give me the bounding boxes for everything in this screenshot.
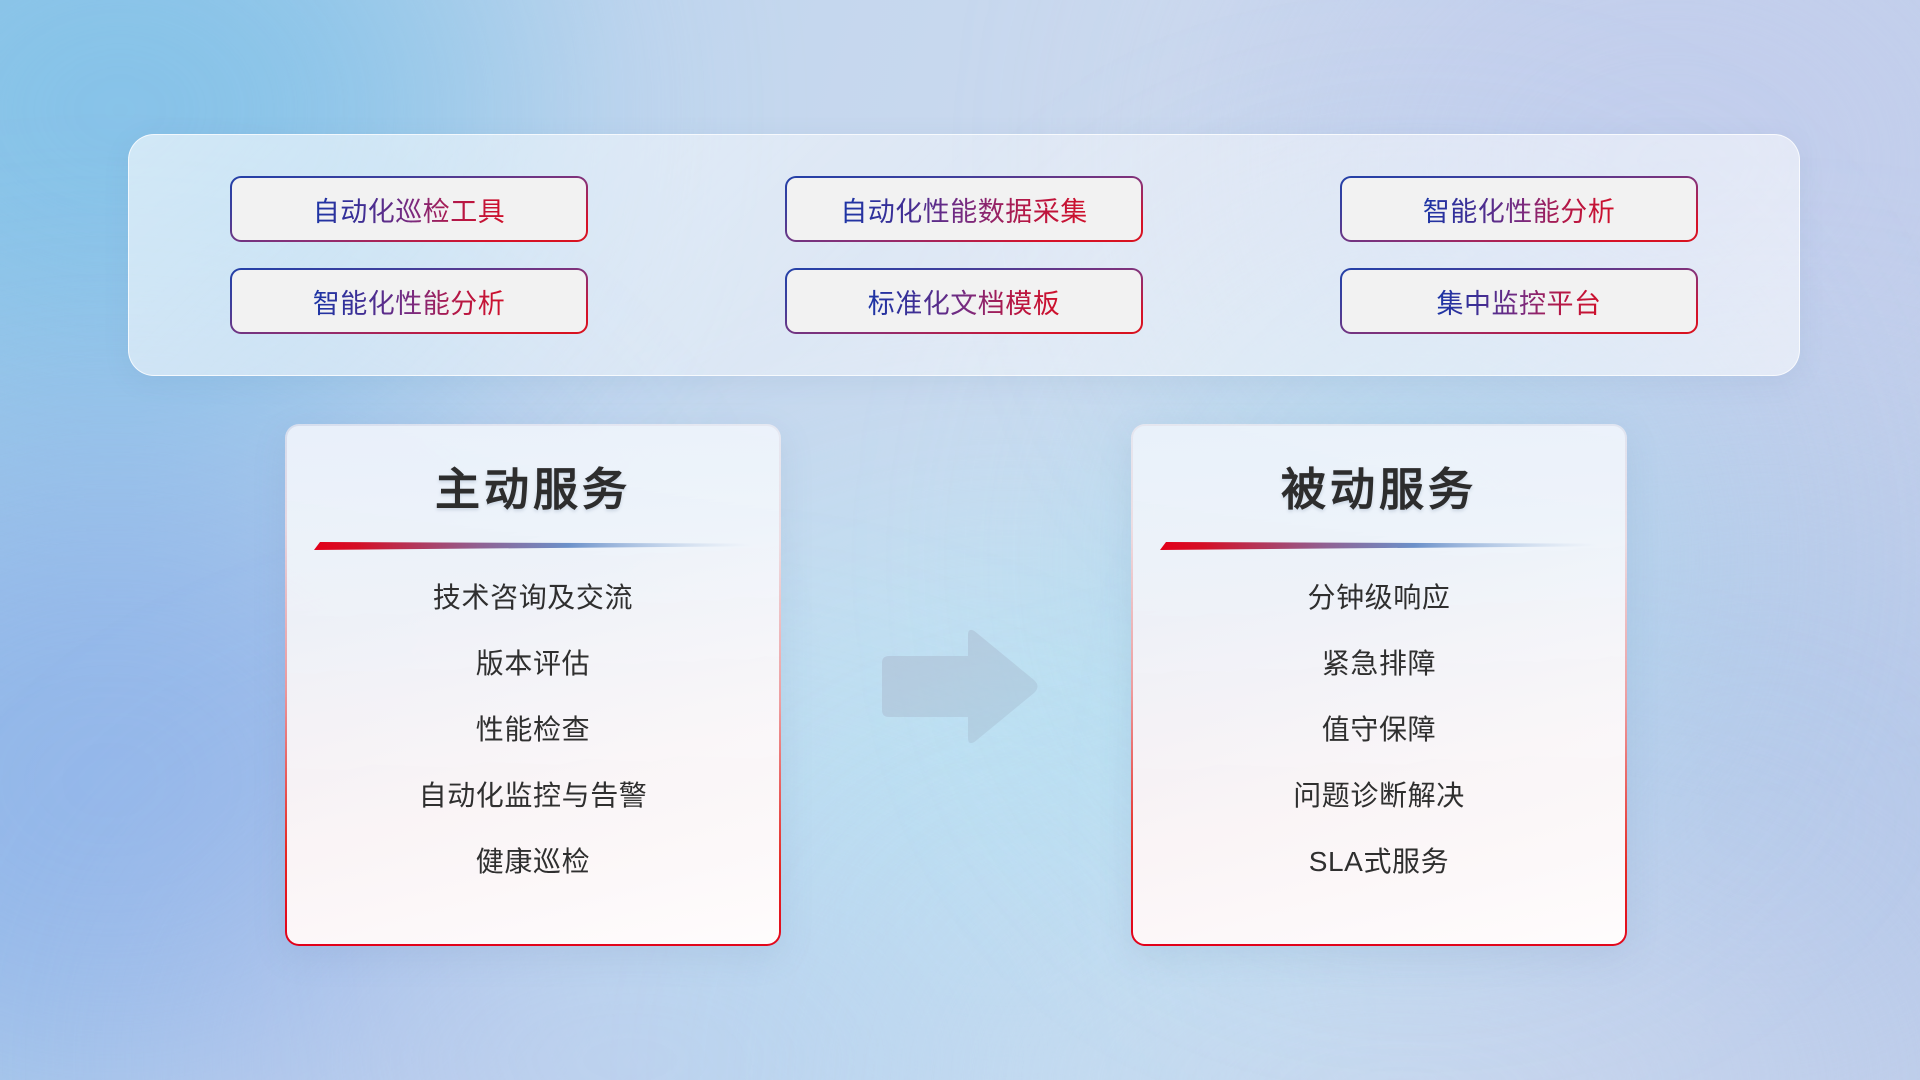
card-title: 被动服务 [1281,453,1477,518]
capability-pill[interactable]: 集中监控平台 [1340,268,1698,334]
arrow-right-icon [882,630,1038,743]
flow-arrow [874,625,1040,750]
capability-pill[interactable]: 标准化文档模板 [785,268,1143,334]
capability-pill[interactable]: 智能化性能分析 [1340,176,1698,242]
card-item[interactable]: SLA式服务 [1309,840,1450,880]
capability-pill[interactable]: 自动化性能数据采集 [785,176,1143,242]
card-item[interactable]: 值守保障 [1322,708,1436,748]
card-title: 主动服务 [435,453,631,518]
card-item[interactable]: 技术咨询及交流 [433,576,633,616]
card-item[interactable]: 版本评估 [476,642,590,682]
service-card-passive: 被动服务 分钟级响应 紧急排障 值守保障 问题诊断解决 SLA式服务 [1131,424,1627,946]
capability-pill-label: 集中监控平台 [1437,282,1602,321]
capability-pill-label: 标准化文档模板 [868,282,1061,321]
card-item[interactable]: 自动化监控与告警 [419,774,648,814]
capability-pill[interactable]: 智能化性能分析 [230,268,588,334]
capabilities-row-1: 自动化巡检工具 自动化性能数据采集 智能化性能分析 [129,176,1799,242]
service-card-active: 主动服务 技术咨询及交流 版本评估 性能检查 自动化监控与告警 健康巡检 [285,424,781,946]
card-item[interactable]: 健康巡检 [476,840,590,880]
card-item-list: 分钟级响应 紧急排障 值守保障 问题诊断解决 SLA式服务 [1133,576,1625,880]
card-item[interactable]: 紧急排障 [1322,642,1436,682]
capability-pill-label: 智能化性能分析 [313,282,506,321]
card-item[interactable]: 问题诊断解决 [1293,774,1465,814]
card-title-divider [314,538,752,552]
card-item-list: 技术咨询及交流 版本评估 性能检查 自动化监控与告警 健康巡检 [287,576,779,880]
card-item[interactable]: 性能检查 [476,708,590,748]
card-item[interactable]: 分钟级响应 [1307,576,1450,616]
capability-pill-label: 自动化巡检工具 [313,190,506,229]
capabilities-panel: 自动化巡检工具 自动化性能数据采集 智能化性能分析 智能化性能分析 标准化文档模… [128,134,1800,376]
capability-pill-label: 智能化性能分析 [1423,190,1616,229]
card-title-divider [1160,538,1598,552]
capability-pill[interactable]: 自动化巡检工具 [230,176,588,242]
capabilities-row-2: 智能化性能分析 标准化文档模板 集中监控平台 [129,268,1799,334]
capability-pill-label: 自动化性能数据采集 [840,190,1088,229]
